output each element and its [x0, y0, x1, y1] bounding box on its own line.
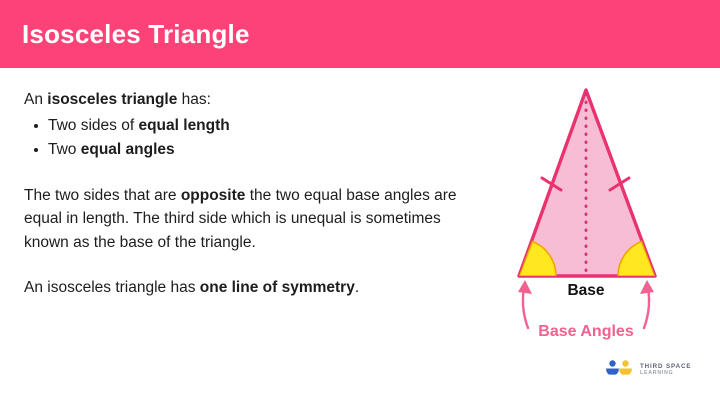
symmetry-bold: one line of symmetry [200, 279, 355, 296]
isosceles-triangle-diagram: Base Base Angles [492, 80, 698, 355]
intro-line: An isosceles triangle has: [24, 88, 486, 112]
bullet-bold: equal angles [81, 141, 175, 158]
explanation-paragraph: The two sides that are opposite the two … [24, 184, 486, 255]
explanation-bold: opposite [181, 187, 246, 204]
content-column: An isosceles triangle has: Two sides of … [24, 88, 486, 300]
list-item: Two equal angles [24, 138, 486, 162]
page-title: Isosceles Triangle [22, 19, 250, 50]
bullet-prefix: Two sides of [48, 117, 138, 134]
explanation-part1: The two sides that are [24, 187, 181, 204]
symmetry-part2: . [355, 279, 359, 296]
feature-list: Two sides of equal length Two equal angl… [24, 114, 486, 162]
base-angles-label: Base Angles [538, 323, 634, 340]
header-bar: Isosceles Triangle [0, 0, 720, 68]
right-arrow-head [640, 280, 654, 294]
bullet-bold: equal length [138, 117, 229, 134]
symmetry-part1: An isosceles triangle has [24, 279, 200, 296]
logo-wordmark: THIRD SPACE LEARNING [640, 364, 691, 377]
intro-suffix: has: [177, 91, 211, 108]
left-arrow-head [518, 280, 532, 294]
symmetry-paragraph: An isosceles triangle has one line of sy… [24, 276, 486, 300]
intro-prefix: An [24, 91, 47, 108]
intro-bold: isosceles triangle [47, 91, 177, 108]
bullet-prefix: Two [48, 141, 81, 158]
list-item: Two sides of equal length [24, 114, 486, 138]
base-label: Base [567, 282, 604, 299]
logo-mark-icon [604, 359, 634, 381]
third-space-learning-logo: THIRD SPACE LEARNING [604, 356, 704, 384]
logo-line-2: LEARNING [640, 371, 691, 377]
